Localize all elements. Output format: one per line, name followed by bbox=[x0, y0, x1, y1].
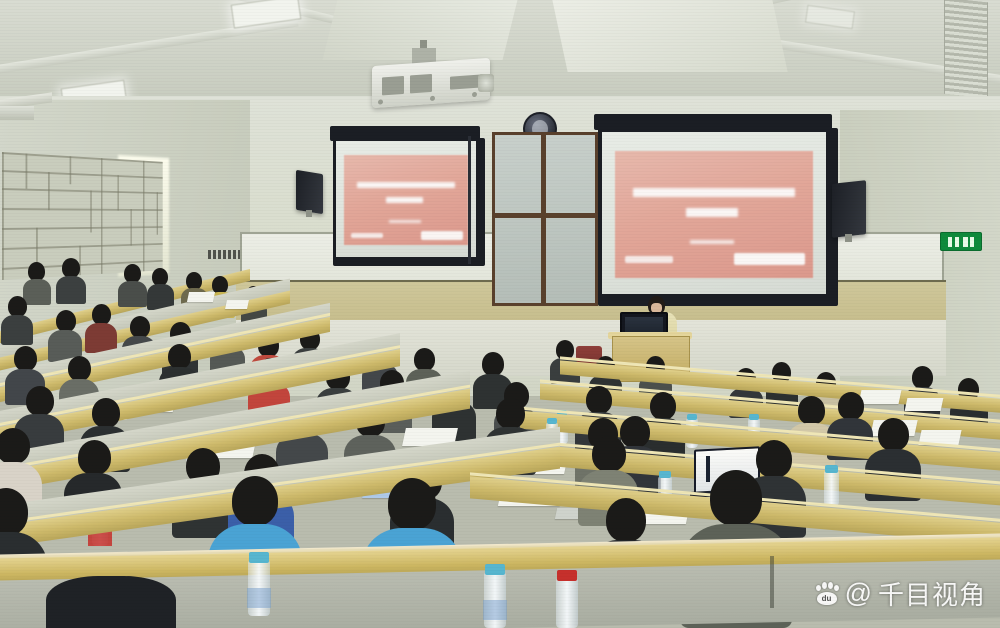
speaker-bracket bbox=[306, 210, 312, 217]
desk-seam bbox=[770, 556, 774, 608]
slide-logo bbox=[351, 233, 383, 238]
slide-highlight bbox=[421, 231, 463, 240]
slide-footer-text bbox=[690, 240, 733, 244]
bottle-cap bbox=[825, 465, 838, 473]
watermark: du @ 千目视角 bbox=[815, 575, 986, 612]
projector-arm-bracket bbox=[0, 106, 34, 120]
left-screen-edge bbox=[468, 136, 471, 264]
bottle-cap bbox=[485, 564, 505, 575]
slide-subtitle-text bbox=[386, 197, 423, 203]
bottle-cap bbox=[659, 471, 671, 478]
water-bottle bbox=[824, 470, 839, 506]
slide-logo bbox=[625, 256, 672, 263]
ceiling-projector bbox=[372, 58, 490, 108]
water-bottle bbox=[556, 578, 578, 628]
bottle-cap bbox=[547, 418, 557, 424]
left-projection-screen[interactable] bbox=[333, 138, 485, 266]
notebook bbox=[859, 390, 902, 404]
slide-footer-text bbox=[389, 220, 421, 223]
bottle-label bbox=[483, 600, 507, 620]
decorative-lattice-wall bbox=[2, 152, 163, 280]
baidu-paw-icon: du bbox=[815, 582, 839, 606]
wall-speaker-left bbox=[296, 170, 323, 214]
exit-running-person-icon bbox=[946, 237, 976, 247]
wall-plaque bbox=[208, 250, 242, 259]
notebook bbox=[905, 398, 944, 411]
right-screen-surface bbox=[602, 132, 826, 294]
right-projection-screen[interactable] bbox=[598, 128, 838, 306]
notebook bbox=[187, 292, 215, 302]
lecture-hall-photo: du @ 千目视角 bbox=[0, 0, 1000, 628]
bottle-cap bbox=[749, 414, 759, 420]
right-slide bbox=[615, 151, 812, 277]
slide-subtitle-text bbox=[686, 208, 737, 217]
notebook bbox=[225, 300, 249, 309]
left-slide bbox=[344, 155, 467, 245]
bottle-cap bbox=[687, 414, 697, 420]
emergency-exit-sign bbox=[940, 232, 982, 251]
laptop-screen-content bbox=[706, 456, 710, 482]
watermark-handle: 千目视角 bbox=[878, 575, 986, 612]
at-symbol: @ bbox=[845, 580, 872, 607]
center-window bbox=[492, 132, 598, 306]
wall-speaker-right bbox=[832, 180, 866, 238]
bottle-label bbox=[247, 588, 271, 608]
bottle-cap bbox=[557, 570, 577, 581]
paw-du-label: du bbox=[821, 594, 833, 603]
left-screen-surface bbox=[336, 141, 476, 257]
speaker-bracket bbox=[845, 234, 852, 242]
ceiling-air-vent bbox=[944, 0, 988, 98]
slide-title-text bbox=[357, 182, 456, 188]
slide-highlight bbox=[734, 253, 805, 265]
slide-title-text bbox=[633, 188, 795, 197]
ceiling-panel bbox=[552, 0, 787, 72]
bottle-cap bbox=[249, 552, 269, 563]
projector-lens bbox=[478, 74, 494, 92]
